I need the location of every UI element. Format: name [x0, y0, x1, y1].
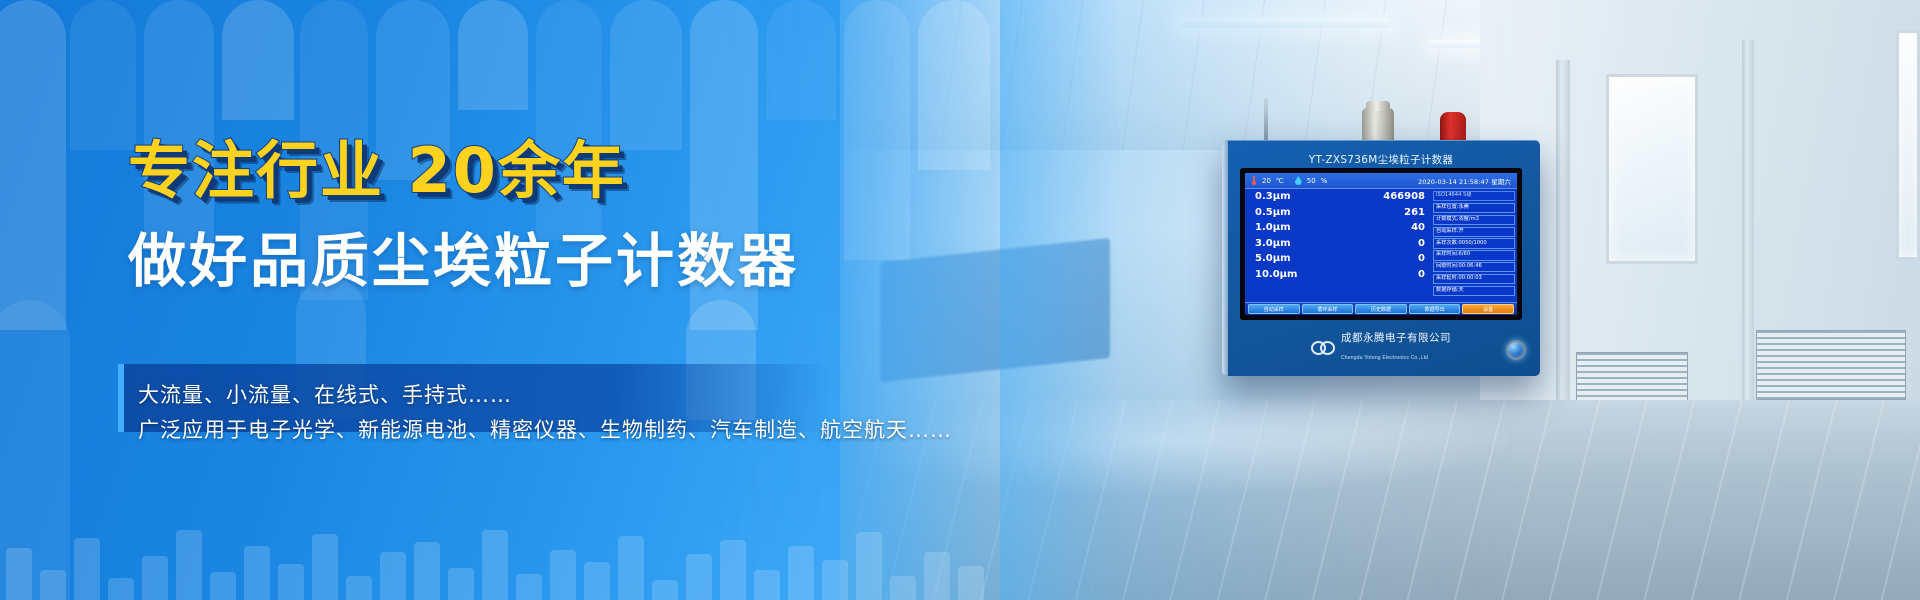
yoteng-logo-icon — [1311, 339, 1335, 353]
particle-count: 0 — [1418, 270, 1425, 280]
particle-readings-table: 0.3μm 466908 0.5μm 261 1.0μm 40 3.0μm — [1245, 189, 1431, 302]
particle-size: 0.5μm — [1255, 208, 1291, 218]
particle-size: 3.0μm — [1255, 239, 1291, 249]
wall-window — [1606, 74, 1698, 264]
info-item-interval-time: 间歇时间:00:06:46 — [1433, 262, 1515, 272]
table-row: 10.0μm 0 — [1255, 270, 1425, 280]
particle-size: 5.0μm — [1255, 254, 1291, 264]
temperature-unit: ℃ — [1276, 177, 1284, 185]
power-indicator-led[interactable] — [1506, 340, 1526, 360]
lcd-bezel: 20 ℃ 50 % 2020-03-14 21:58:47 星期六 0.3μm … — [1240, 168, 1522, 320]
device-alarm-beacon — [1440, 112, 1466, 142]
brand-text-block: 成都永腾电子有限公司 Chengdu Yoteng Electronics Co… — [1341, 328, 1451, 364]
temperature-value: 20 — [1262, 177, 1271, 185]
banner-headline: 专注行业 20余年 — [128, 120, 626, 210]
device-antenna — [1264, 98, 1268, 142]
toolbar-button-auto-sampling[interactable]: 自动采样 — [1248, 304, 1300, 314]
toolbar-button-cycle-sampling[interactable]: 循环采样 — [1302, 304, 1354, 314]
particle-size: 1.0μm — [1255, 223, 1291, 233]
info-item-sample-times: 采样次数:0050/1000 — [1433, 238, 1515, 248]
toolbar-button-data-export[interactable]: 数据导出 — [1409, 304, 1461, 314]
device-sampling-port — [1362, 108, 1394, 142]
humidity-drop-icon — [1295, 176, 1302, 185]
particle-count: 0 — [1418, 239, 1425, 249]
humidity-value: 50 — [1307, 177, 1316, 185]
info-item-data-storage: 数据存储:天 — [1433, 286, 1515, 296]
device-model-label: YT-ZXS736M尘埃粒子计数器 — [1240, 152, 1522, 167]
table-row: 1.0μm 40 — [1255, 223, 1425, 233]
thermometer-icon — [1251, 176, 1257, 186]
lcd-status-bar: 20 ℃ 50 % 2020-03-14 21:58:47 星期六 — [1245, 173, 1517, 189]
particle-count: 261 — [1404, 208, 1425, 218]
wall-window — [1896, 30, 1920, 260]
brand-name-cn: 成都永腾电子有限公司 — [1341, 332, 1451, 344]
lcd-body: 0.3μm 466908 0.5μm 261 1.0μm 40 3.0μm — [1245, 189, 1517, 302]
particle-size: 10.0μm — [1255, 270, 1297, 280]
lcd-screen[interactable]: 20 ℃ 50 % 2020-03-14 21:58:47 星期六 0.3μm … — [1245, 173, 1517, 315]
info-item-auto-sampling: 自动采样:开 — [1433, 227, 1515, 237]
table-row: 0.3μm 466908 — [1255, 192, 1425, 202]
table-row: 3.0μm 0 — [1255, 239, 1425, 249]
particle-count: 40 — [1411, 223, 1425, 233]
banner-subheadline: 做好品质尘埃粒子计数器 — [128, 214, 799, 298]
particle-size: 0.3μm — [1255, 192, 1291, 202]
wall-vent-grille — [1756, 330, 1906, 400]
info-item-iso-class: ISO14644 5级 — [1433, 191, 1515, 201]
device-edge — [1222, 140, 1228, 376]
brand-name-en: Chengdu Yoteng Electronics Co.,Ltd — [1341, 355, 1428, 361]
description-line-1: 大流量、小流量、在线式、手持式…… — [138, 379, 512, 409]
info-item-sample-duration: 采样时间:6/60 — [1433, 250, 1515, 260]
particle-count: 466908 — [1383, 192, 1425, 202]
table-row: 5.0μm 0 — [1255, 254, 1425, 264]
toolbar-button-settings[interactable]: 设置 — [1462, 304, 1514, 314]
info-item-sample-delay: 采样延时:00:00:03 — [1433, 274, 1515, 284]
info-item-sample-location: 采样位置:永腾 — [1433, 203, 1515, 213]
particle-counter-device: YT-ZXS736M尘埃粒子计数器 20 ℃ 50 % 2020-03-14 2… — [1222, 140, 1540, 376]
lcd-datetime: 2020-03-14 21:58:47 星期六 — [1418, 176, 1511, 186]
decorative-equalizer — [0, 490, 1020, 600]
wall-vent-grille — [1576, 352, 1688, 406]
lcd-toolbar: 自动采样 循环采样 历史数据 数据导出 设置 — [1245, 302, 1517, 315]
banner-stage: 专注行业 20余年 做好品质尘埃粒子计数器 大流量、小流量、在线式、手持式…… … — [0, 0, 1920, 600]
toolbar-button-history-data[interactable]: 历史数据 — [1355, 304, 1407, 314]
device-branding: 成都永腾电子有限公司 Chengdu Yoteng Electronics Co… — [1240, 326, 1522, 366]
table-row: 0.5μm 261 — [1255, 208, 1425, 218]
humidity-unit: % — [1321, 177, 1328, 185]
particle-count: 0 — [1418, 254, 1425, 264]
settings-info-panel: ISO14644 5级 采样位置:永腾 计数模式:浓度/m3 自动采样:开 采样… — [1431, 189, 1517, 302]
info-item-count-mode: 计数模式:浓度/m3 — [1433, 215, 1515, 225]
description-line-2: 广泛应用于电子光学、新能源电池、精密仪器、生物制药、汽车制造、航空航天…… — [138, 414, 952, 444]
